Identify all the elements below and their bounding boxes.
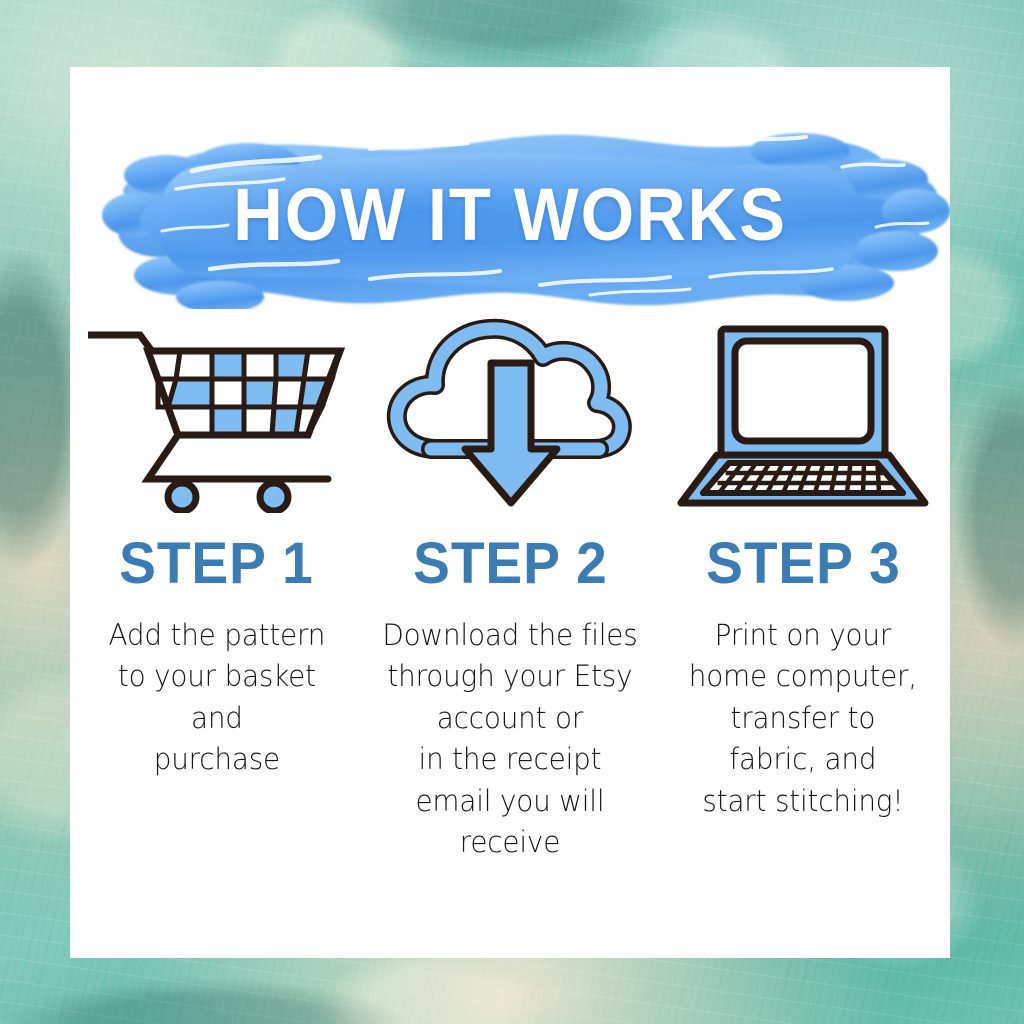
cart-wheel-right (260, 483, 288, 511)
step-3-line-1: Print on your (689, 615, 917, 656)
download-arrow-icon (465, 363, 557, 503)
step-3-icon-box (673, 303, 933, 513)
title-banner: HOW IT WORKS (70, 119, 950, 309)
step-2-line-1: Download the files (382, 615, 637, 656)
step-2-icon-box (385, 303, 635, 513)
step-1-label: STEP 1 (119, 535, 314, 593)
step-1-body: Add the pattern to your basket and purch… (108, 615, 325, 781)
step-1-line-2: to your basket (108, 656, 325, 697)
step-2-line-2: through your Etsy (382, 656, 637, 697)
step-2-body: Download the files through your Etsy acc… (382, 615, 637, 864)
white-card: HOW IT WORKS (70, 67, 950, 958)
step-3-line-3: transfer to (689, 698, 917, 739)
step-3-label: STEP 3 (706, 535, 901, 593)
step-2-line-6: receive (382, 822, 637, 863)
step-1-line-3: and (108, 698, 325, 739)
steps-row: STEP 1 Add the pattern to your basket an… (70, 303, 950, 864)
step-2-line-3: account or (382, 698, 637, 739)
step-2-line-5: email you will (382, 781, 637, 822)
step-2-line-4: in the receipt (382, 739, 637, 780)
page-title: HOW IT WORKS (101, 119, 919, 309)
infographic-stage: HOW IT WORKS (0, 0, 1024, 1024)
shopping-cart-icon (82, 313, 352, 513)
step-3-line-4: fabric, and (689, 739, 917, 780)
step-1-line-4: purchase (108, 739, 325, 780)
laptop-icon (673, 313, 933, 513)
step-column-2: STEP 2 Download the files through your E… (363, 303, 656, 864)
step-3-body: Print on your home computer, transfer to… (689, 615, 917, 822)
step-2-label: STEP 2 (413, 535, 608, 593)
step-3-line-5: start stitching! (689, 781, 917, 822)
step-column-3: STEP 3 Print on your home computer, tran… (657, 303, 950, 864)
cart-wheel-left (168, 483, 196, 511)
cloud-download-icon (385, 313, 635, 513)
step-1-line-1: Add the pattern (108, 615, 325, 656)
step-3-line-2: home computer, (689, 656, 917, 697)
step-1-icon-box (82, 303, 352, 513)
step-column-1: STEP 1 Add the pattern to your basket an… (70, 303, 363, 864)
laptop-screen (735, 341, 871, 441)
